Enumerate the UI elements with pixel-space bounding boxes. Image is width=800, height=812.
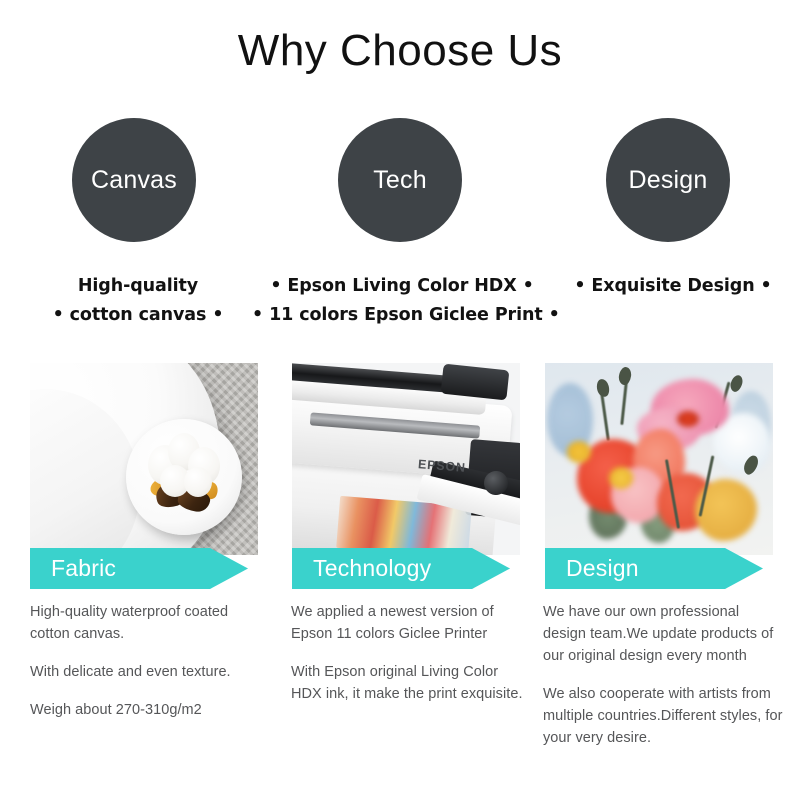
copy-design-p2: We also cooperate with artists from mult…	[543, 683, 785, 749]
cotton-boll-icon	[142, 431, 226, 515]
caption-tech: • Epson Living Color HDX • • 11 colors E…	[252, 272, 552, 330]
banner-design-label: Design	[545, 555, 639, 582]
banner-technology: Technology	[292, 548, 510, 589]
copy-design: We have our own professional design team…	[543, 601, 785, 765]
card-fabric: Fabric	[30, 363, 258, 555]
copy-technology-p2: With Epson original Living Color HDX ink…	[291, 661, 529, 705]
copy-fabric-p1: High-quality waterproof coated cotton ca…	[30, 601, 266, 645]
caption-tech-line2: • 11 colors Epson Giclee Print •	[252, 301, 552, 330]
badge-canvas-label: Canvas	[91, 166, 177, 195]
copy-fabric: High-quality waterproof coated cotton ca…	[30, 601, 266, 737]
caption-design: • Exquisite Design •	[548, 272, 798, 301]
technology-photo: EPSON	[292, 363, 520, 555]
copy-fabric-p2: With delicate and even texture.	[30, 661, 266, 683]
badge-design-label: Design	[628, 166, 707, 195]
caption-canvas-line2: • cotton canvas •	[12, 301, 264, 330]
design-photo	[545, 363, 773, 555]
caption-tech-line1: • Epson Living Color HDX •	[252, 272, 552, 301]
badge-design: Design	[606, 118, 730, 242]
caption-row: High-quality • cotton canvas • • Epson L…	[0, 272, 800, 342]
card-design: Design	[545, 363, 773, 555]
fabric-photo	[30, 363, 258, 555]
cotton-tuft-icon	[184, 467, 212, 497]
banner-fabric-label: Fabric	[30, 555, 116, 582]
banner-design: Design	[545, 548, 763, 589]
caption-canvas: High-quality • cotton canvas •	[12, 272, 264, 330]
page-title: Why Choose Us	[0, 26, 800, 76]
caption-canvas-line1: High-quality	[12, 272, 264, 301]
copy-technology-p1: We applied a newest version of Epson 11 …	[291, 601, 529, 645]
copy-technology: We applied a newest version of Epson 11 …	[291, 601, 529, 721]
card-row: Fabric EPSON Technology	[0, 363, 800, 593]
badge-tech: Tech	[338, 118, 462, 242]
copy-design-p1: We have our own professional design team…	[543, 601, 785, 667]
card-technology: EPSON Technology	[292, 363, 520, 555]
copy-fabric-p3: Weigh about 270-310g/m2	[30, 699, 266, 721]
banner-fabric: Fabric	[30, 548, 248, 589]
badge-tech-label: Tech	[373, 166, 427, 195]
yellow-flower-center	[567, 441, 591, 463]
yellow-flower-center	[609, 467, 633, 489]
badge-row: Canvas Tech Design	[0, 118, 800, 242]
flower-center	[677, 411, 699, 427]
badge-canvas: Canvas	[72, 118, 196, 242]
caption-design-line1: • Exquisite Design •	[548, 272, 798, 301]
banner-technology-label: Technology	[292, 555, 431, 582]
